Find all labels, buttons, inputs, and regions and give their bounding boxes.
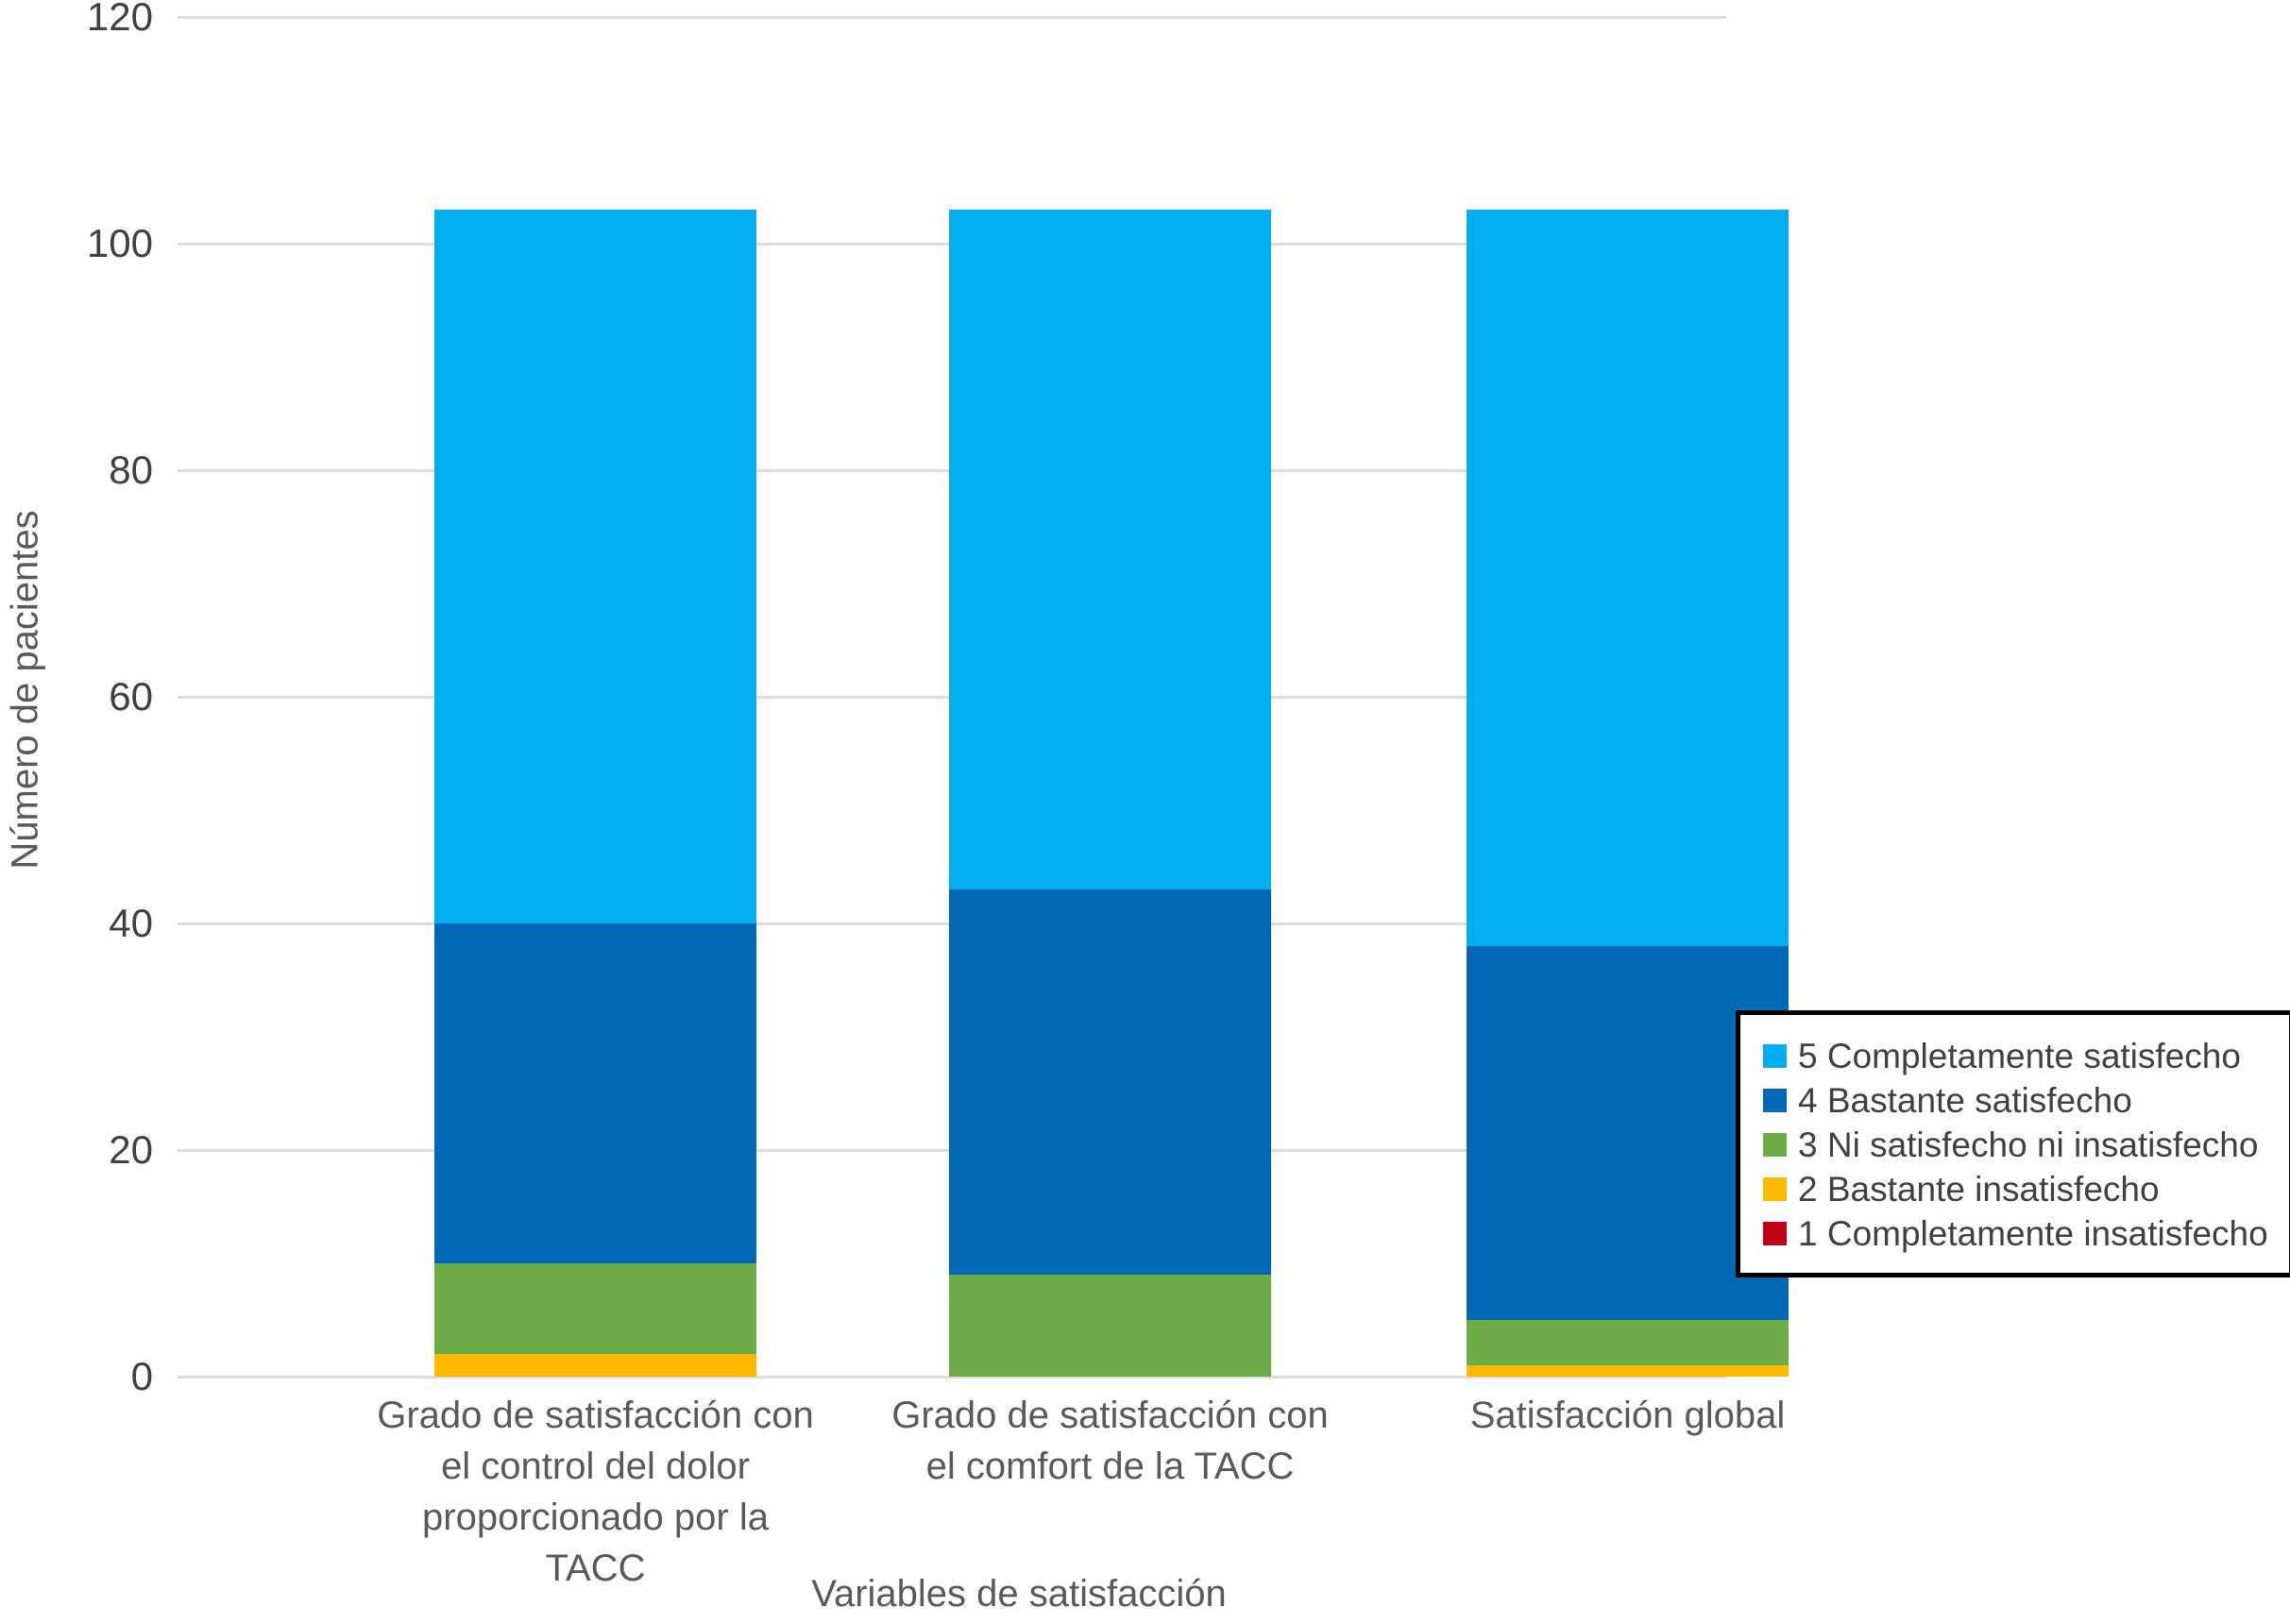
chart-figure: Número de pacientes 020406080100120 Grad… (0, 0, 2290, 1624)
legend-item-label: 3 Ni satisfecho ni insatisfecho (1798, 1127, 2258, 1162)
category-label-line: Grado de satisfacción con (374, 1390, 818, 1441)
x-axis-category-label: Satisfacción global (1406, 1390, 1850, 1441)
y-axis-tick-label: 100 (87, 221, 153, 266)
legend-item[interactable]: 2 Bastante insatisfecho (1763, 1167, 2268, 1211)
x-axis-category-labels: Grado de satisfacción conel control del … (178, 1390, 1726, 1560)
y-axis-tick-label: 40 (109, 901, 153, 946)
x-axis-category-label: Grado de satisfacción conel control del … (374, 1390, 818, 1594)
bar-segment[interactable] (434, 1354, 756, 1377)
category-label-line: Satisfacción global (1406, 1390, 1850, 1441)
y-axis-tick-label: 60 (109, 674, 153, 719)
x-axis-title: Variables de satisfacción (51, 1573, 1987, 1616)
bar-segment[interactable] (949, 210, 1271, 889)
stacked-bar[interactable] (434, 210, 756, 1377)
legend-swatch-icon (1763, 1133, 1787, 1157)
legend-item-label: 1 Completamente insatisfecho (1798, 1216, 2268, 1251)
legend-item[interactable]: 5 Completamente satisfecho (1763, 1034, 2268, 1078)
legend-swatch-icon (1763, 1044, 1787, 1068)
bar-segment[interactable] (434, 923, 756, 1263)
y-axis-tick-label: 120 (87, 0, 153, 40)
legend-swatch-icon (1763, 1089, 1787, 1112)
x-axis-category-label: Grado de satisfacción conel comfort de l… (889, 1390, 1332, 1492)
bar-segment[interactable] (1467, 1365, 1789, 1377)
bar-segment[interactable] (1467, 1320, 1789, 1365)
plot-area: 020406080100120 (178, 17, 1726, 1377)
bar-segment[interactable] (949, 889, 1271, 1275)
legend-item-label: 5 Completamente satisfecho (1798, 1039, 2241, 1074)
y-gridline: 120 (178, 16, 1726, 19)
legend-item-label: 4 Bastante satisfecho (1798, 1083, 2132, 1118)
y-axis-tick-label: 80 (109, 448, 153, 493)
stacked-bar[interactable] (949, 210, 1271, 1377)
legend-item[interactable]: 4 Bastante satisfecho (1763, 1078, 2268, 1123)
category-label-line: el comfort de la TACC (889, 1441, 1332, 1492)
category-label-line: Grado de satisfacción con (889, 1390, 1332, 1441)
y-axis-tick-label: 20 (109, 1127, 153, 1173)
legend-item[interactable]: 3 Ni satisfecho ni insatisfecho (1763, 1123, 2268, 1167)
legend-swatch-icon (1763, 1177, 1787, 1201)
y-axis-title-text: Número de pacientes (5, 510, 47, 869)
legend-swatch-icon (1763, 1222, 1787, 1245)
chart-legend: 5 Completamente satisfecho4 Bastante sat… (1736, 1010, 2290, 1277)
bar-segment[interactable] (1467, 210, 1789, 946)
category-label-line: el control del dolor (374, 1441, 818, 1492)
legend-item-label: 2 Bastante insatisfecho (1798, 1172, 2160, 1207)
bar-segment[interactable] (434, 1263, 756, 1354)
bar-segment[interactable] (434, 210, 756, 923)
y-axis-tick-label: 0 (131, 1354, 153, 1399)
bar-segment[interactable] (949, 1275, 1271, 1377)
y-axis-title: Número de pacientes (0, 0, 51, 1379)
legend-item[interactable]: 1 Completamente insatisfecho (1763, 1211, 2268, 1256)
